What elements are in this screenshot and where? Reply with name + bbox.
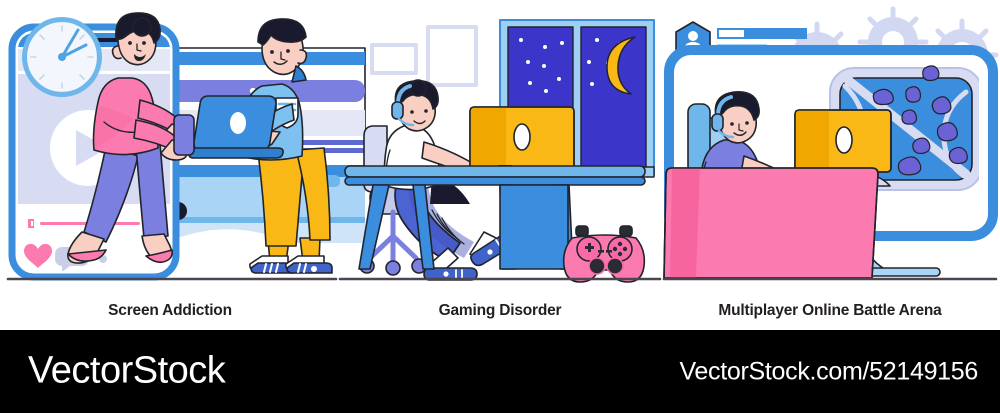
analog-stick [589,258,605,274]
armchair [664,168,878,278]
panel-screen-addiction [8,13,365,279]
wall-clock [22,17,102,97]
stat-bar-primary [717,28,807,39]
watermark-footer: VectorStock VectorStock.com/52149156 [0,330,1000,413]
wall-picture-frames [372,27,476,85]
panel-moba [664,9,996,279]
laptop-device [189,96,283,158]
caption-gaming-disorder: Gaming Disorder [340,302,660,320]
analog-stick [607,258,623,274]
panel-gaming-disorder [340,20,660,282]
caption-row: Screen Addiction Gaming Disorder Multipl… [0,292,1000,330]
game-controller[interactable] [564,226,645,282]
caption-moba: Multiplayer Online Battle Arena [660,302,1000,320]
caption-screen-addiction: Screen Addiction [0,302,340,320]
illustration-canvas: Screen Addiction Gaming Disorder Multipl… [0,0,1000,413]
sneaker [286,256,332,273]
vectorstock-logo: VectorStock [28,349,225,392]
illustration-artwork [0,0,1000,290]
vectorstock-url: VectorStock.com/52149156 [679,357,978,386]
user-icon [688,31,698,41]
handheld-phone [174,115,194,155]
